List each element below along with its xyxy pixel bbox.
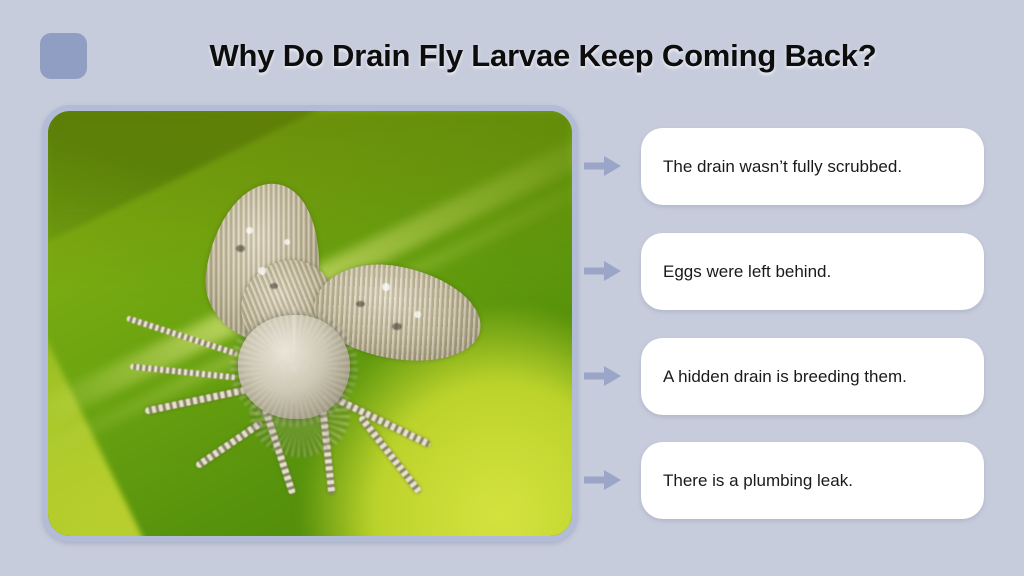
fly-thorax-hairs xyxy=(230,307,358,427)
reason-card[interactable]: Eggs were left behind. xyxy=(641,233,984,310)
fly-wing-speck xyxy=(246,227,253,234)
arrow-right-icon xyxy=(584,153,622,179)
fly-wing-speck xyxy=(414,311,421,318)
fly-wing-speck xyxy=(382,283,390,291)
fly-wing-spot xyxy=(236,245,245,252)
arrow-icon xyxy=(584,258,622,284)
title-accent-square xyxy=(40,33,87,79)
arrow-icon xyxy=(584,467,622,493)
arrow-icon xyxy=(584,363,622,389)
reason-card[interactable]: The drain wasn’t fully scrubbed. xyxy=(641,128,984,205)
fly-wing-spot xyxy=(356,301,365,307)
reason-card[interactable]: A hidden drain is breeding them. xyxy=(641,338,984,415)
reason-card-label: A hidden drain is breeding them. xyxy=(641,366,923,387)
arrow-right-icon xyxy=(584,363,622,389)
reason-card-label: The drain wasn’t fully scrubbed. xyxy=(641,156,918,177)
slide-canvas: Why Do Drain Fly Larvae Keep Coming Back… xyxy=(0,0,1024,576)
arrow-right-icon xyxy=(584,467,622,493)
page-title: Why Do Drain Fly Larvae Keep Coming Back… xyxy=(148,34,938,78)
fly-wing-speck xyxy=(258,267,266,275)
fly-wing-spot xyxy=(392,323,402,330)
fly-wing-speck xyxy=(284,239,290,245)
drain-fly-photo xyxy=(48,111,572,536)
arrow-right-icon xyxy=(584,258,622,284)
fly-wing-spot xyxy=(270,283,278,289)
photo-frame xyxy=(42,105,578,542)
reason-card-label: There is a plumbing leak. xyxy=(641,470,869,491)
reason-card-label: Eggs were left behind. xyxy=(641,261,847,282)
arrow-icon xyxy=(584,153,622,179)
reason-card[interactable]: There is a plumbing leak. xyxy=(641,442,984,519)
drain-fly-illustration xyxy=(166,183,496,513)
